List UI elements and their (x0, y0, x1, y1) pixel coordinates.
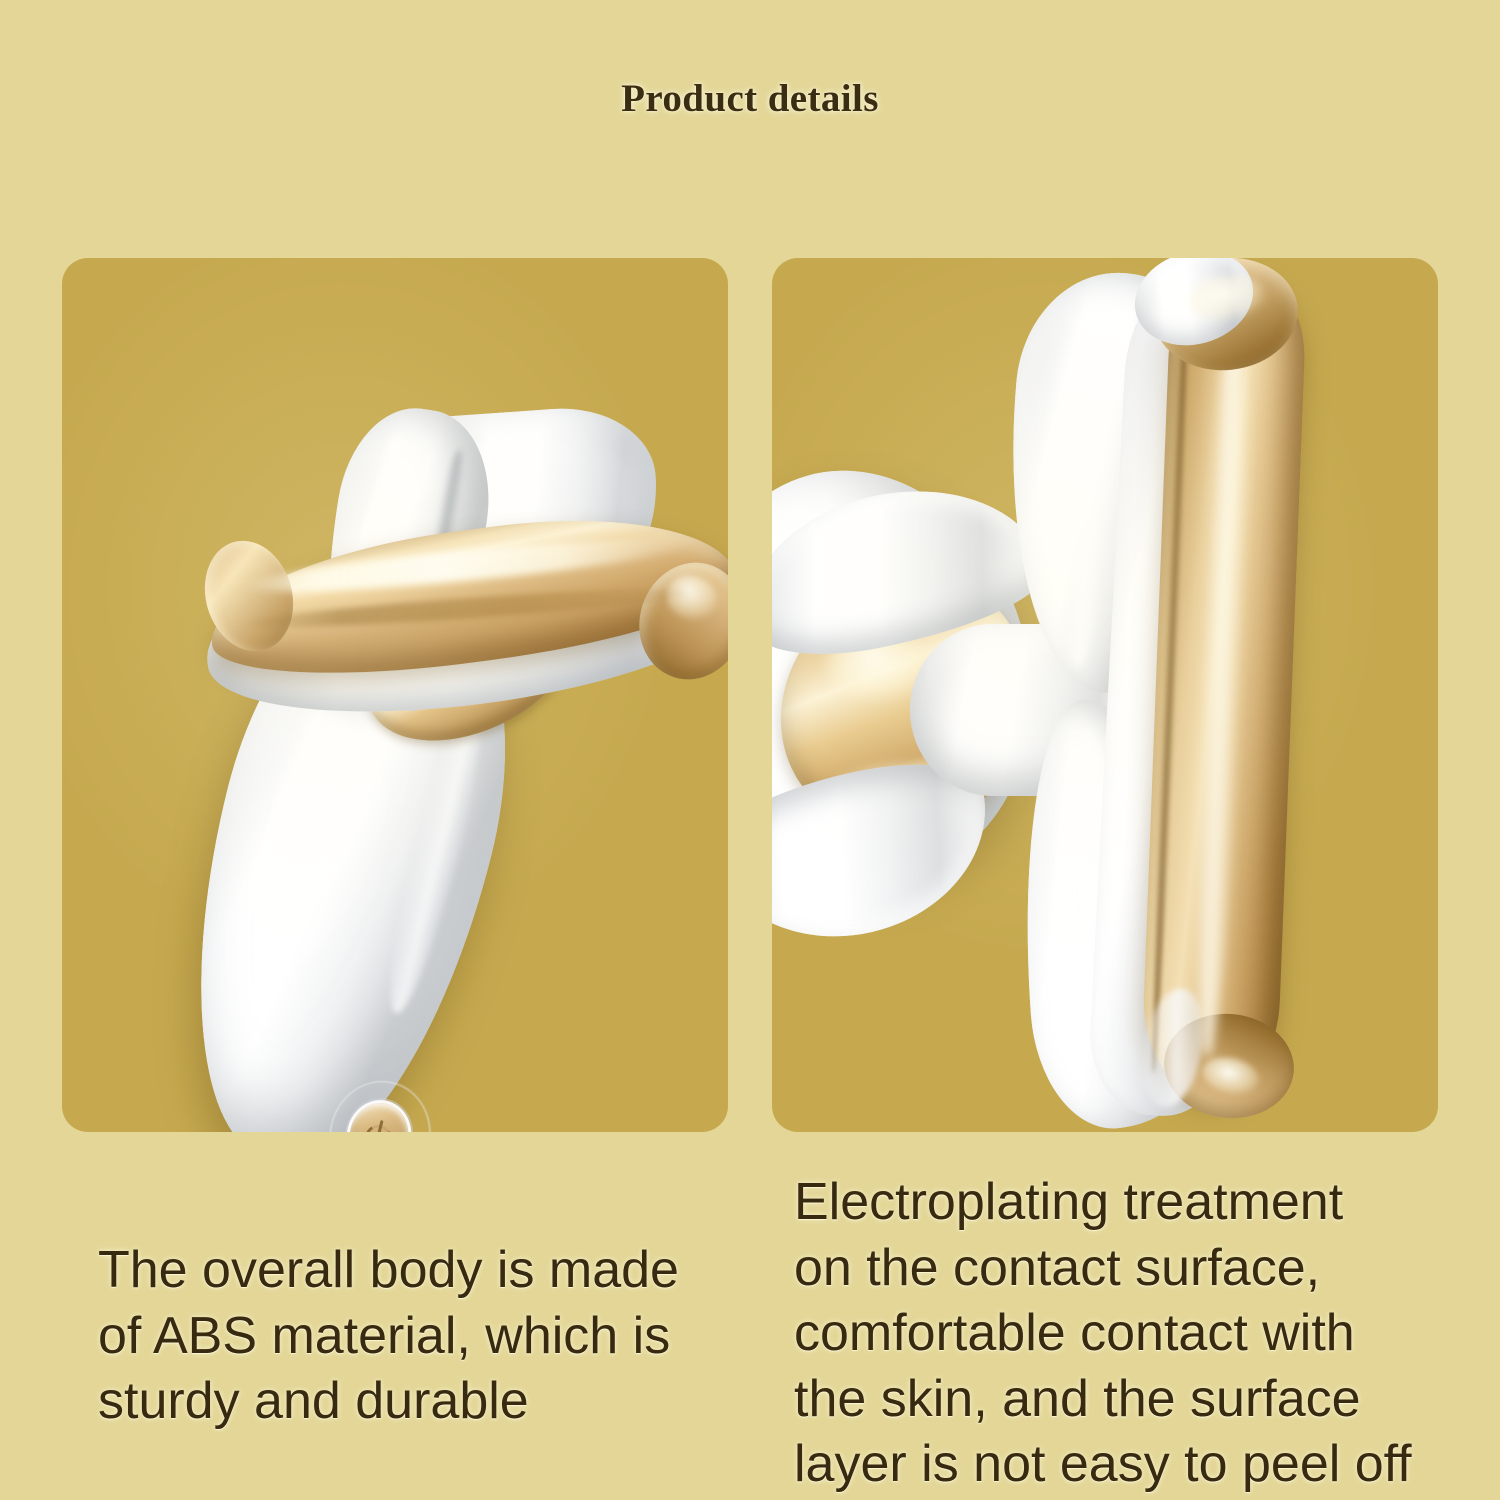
panel-right-caption: Electroplating treatment on the contact … (794, 1170, 1454, 1498)
panel-left-caption: The overall body is made of ABS material… (98, 1238, 738, 1435)
power-icon (361, 1117, 397, 1132)
device-illustration-side-view (772, 258, 1438, 1132)
product-image-panel-left (62, 258, 728, 1132)
page-title: Product details (0, 76, 1500, 121)
device-illustration-three-quarter-view (62, 258, 728, 1132)
product-image-panel-right (772, 258, 1438, 1132)
